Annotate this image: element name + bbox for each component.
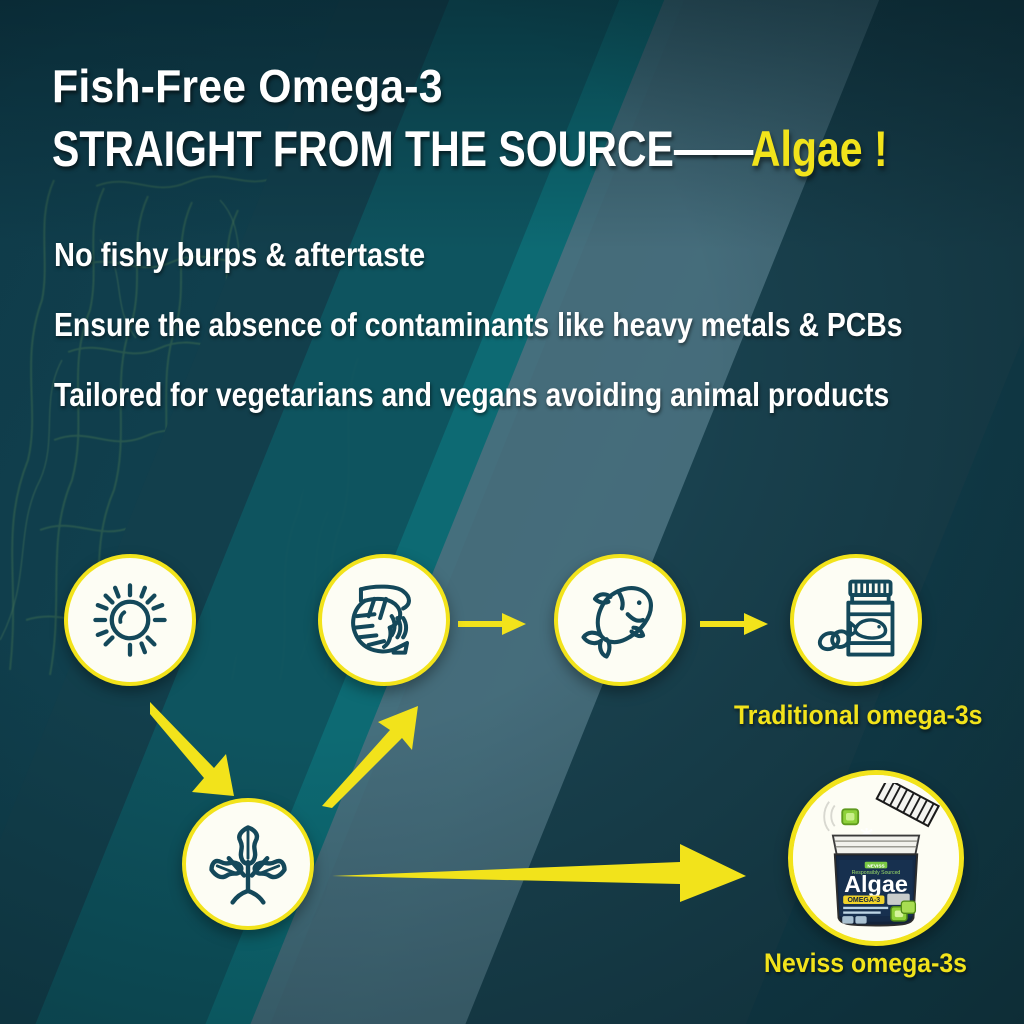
supplement-bottle-icon: [808, 572, 904, 668]
headline-accent-word: Algae: [751, 121, 863, 177]
seaweed-icon: [200, 816, 296, 912]
headline-line-2-prefix: STRAIGHT FROM THE SOURCE: [52, 121, 674, 177]
shrimp-icon: [336, 572, 432, 668]
headline-line-1: Fish-Free Omega-3: [52, 62, 936, 110]
arrow-algae-to-product: [330, 836, 750, 906]
fish-icon: [572, 572, 668, 668]
product-photo-frame: NEVISS Responsibly Sourced Algae OMEGA-3: [793, 775, 959, 941]
product-brand-text: Algae: [844, 871, 908, 897]
benefit-item-1: No fishy burps & aftertaste: [54, 236, 899, 274]
headline-block: Fish-Free Omega-3 STRAIGHT FROM THE SOUR…: [52, 62, 1002, 175]
algae-gummy-jar-photo: NEVISS Responsibly Sourced Algae OMEGA-3: [801, 783, 951, 933]
caption-neviss: Neviss omega-3s: [764, 948, 967, 979]
headline-line-2: STRAIGHT FROM THE SOURCE——Algae !: [52, 124, 831, 175]
caption-traditional: Traditional omega-3s: [734, 700, 982, 731]
flow-node-fish[interactable]: [554, 554, 686, 686]
flow-node-product-photo[interactable]: NEVISS Responsibly Sourced Algae OMEGA-3: [788, 770, 964, 946]
product-subtitle-text: OMEGA-3: [847, 897, 880, 904]
headline-em-dash: ——: [674, 121, 751, 177]
sun-icon: [82, 572, 178, 668]
flow-node-algae[interactable]: [182, 798, 314, 930]
poster-canvas: Fish-Free Omega-3 STRAIGHT FROM THE SOUR…: [0, 0, 1024, 1024]
arrow-fish-to-bottle: [700, 606, 770, 642]
flow-node-supplement-bottle[interactable]: [790, 554, 922, 686]
headline-exclamation-mark: !: [874, 121, 888, 177]
flow-node-sun[interactable]: [64, 554, 196, 686]
benefits-list: No fishy burps & aftertaste Ensure the a…: [54, 236, 1014, 414]
arrow-shrimp-to-fish: [458, 606, 528, 642]
headline-exclamation: [863, 121, 874, 177]
arrow-sun-to-algae: [148, 700, 258, 810]
benefit-item-2: Ensure the absence of contaminants like …: [54, 306, 880, 344]
benefit-item-3: Tailored for vegetarians and vegans avoi…: [54, 376, 880, 414]
product-small-top: NEVISS: [867, 863, 884, 868]
arrow-algae-to-shrimp: [318, 700, 428, 810]
flow-node-shrimp[interactable]: [318, 554, 450, 686]
